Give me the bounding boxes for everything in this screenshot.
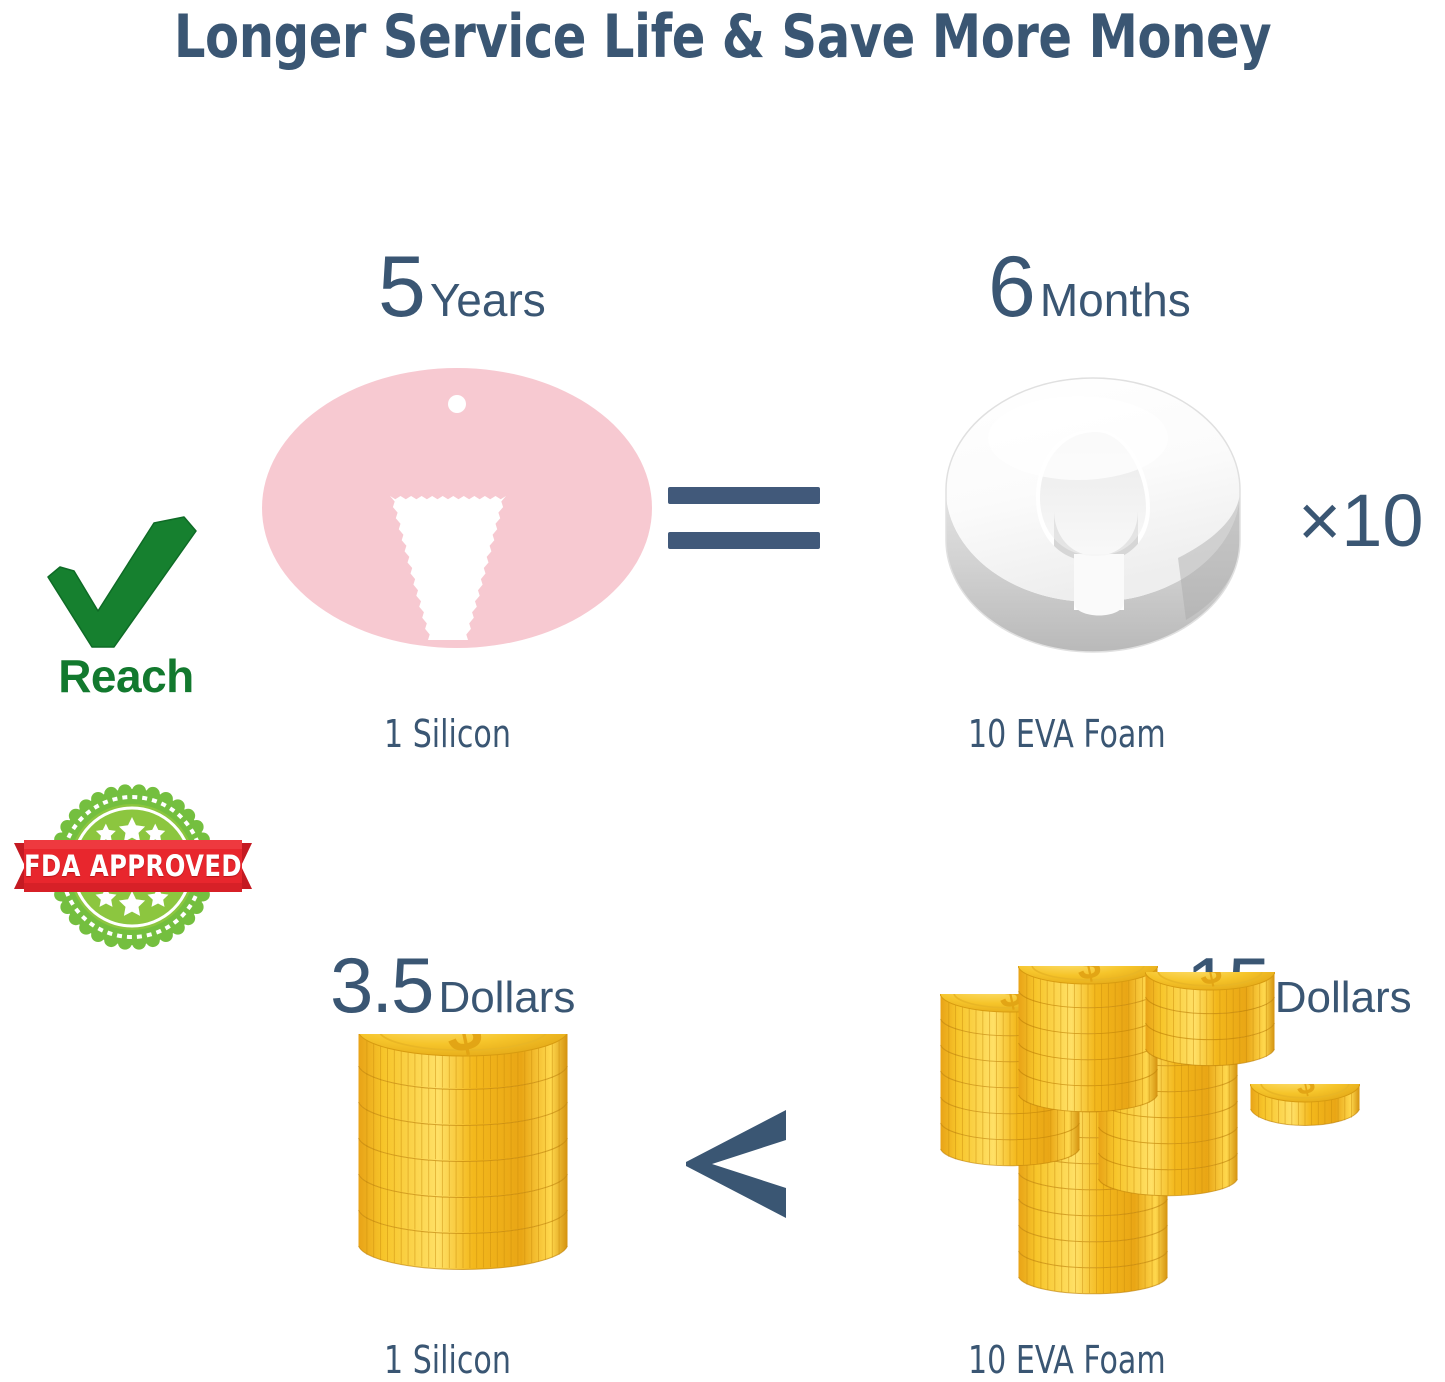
silicon-lifespan-unit: Years [430, 277, 546, 323]
coin-stack-icon: $ [1145, 972, 1275, 1077]
silicon-lifespan-value: 5 [378, 244, 424, 330]
reach-label: Reach [36, 649, 216, 703]
foam-lifespan-caption: 10 EVA Foam [968, 712, 1166, 756]
silicon-cost-value: 3.5 [330, 946, 432, 1024]
silicon-pad-slot [262, 368, 652, 648]
foam-multiplier-label: ×10 [1298, 478, 1424, 563]
coin-pile-icon: $$$$$$ [930, 975, 1350, 1305]
silicon-cost-unit: Dollars [438, 976, 575, 1020]
foam-cost-caption: 10 EVA Foam [968, 1338, 1166, 1382]
eva-foam-ring-icon [928, 358, 1258, 663]
silicon-lifespan-caption: 1 Silicon [384, 712, 511, 756]
less-than-icon [676, 1104, 796, 1224]
foam-lifespan-label: 6 Months [988, 244, 1191, 330]
page-title: Longer Service Life & Save More Money [58, 2, 1387, 72]
equals-bar-bottom [668, 532, 820, 549]
equals-bar-top [668, 487, 820, 504]
silicon-lifespan-label: 5 Years [378, 244, 546, 330]
silicon-cost-caption: 1 Silicon [384, 1338, 511, 1382]
coin-stack-icon: $ [358, 1034, 568, 1281]
coin-stack-icon: $ [1018, 966, 1158, 1123]
silicon-pad-icon [262, 368, 652, 648]
reach-badge: Reach [36, 515, 216, 705]
foam-lifespan-value: 6 [988, 244, 1034, 330]
fda-ribbon-label: FDA APPROVED [22, 837, 243, 895]
coin-stack-icon: $ [1250, 1084, 1360, 1137]
silicon-cost-label: 3.5 Dollars [330, 946, 575, 1024]
foam-lifespan-unit: Months [1040, 277, 1191, 323]
check-mark-icon [36, 515, 216, 655]
equals-icon [668, 487, 820, 553]
fda-approved-badge: FDA APPROVED [14, 775, 252, 957]
